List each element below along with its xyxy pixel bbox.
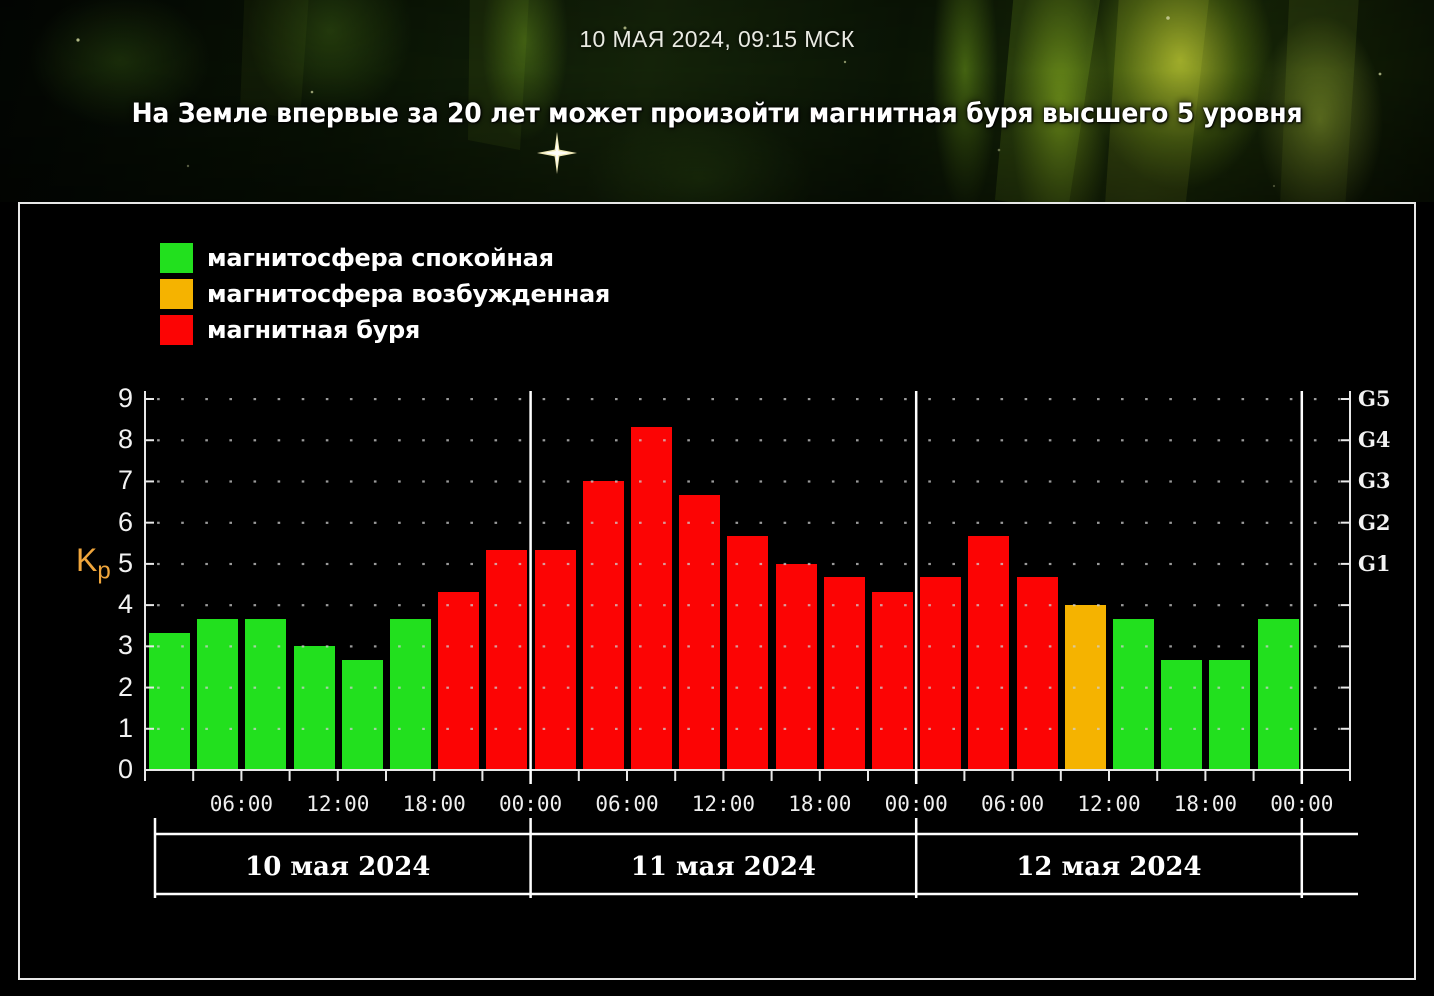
bar-17 bbox=[968, 536, 1009, 770]
y-tick-2: 2 bbox=[97, 674, 133, 701]
x-tick-3: 00:00 bbox=[486, 794, 576, 815]
x-tick-7: 00:00 bbox=[871, 794, 961, 815]
g-tick-G4: G4 bbox=[1358, 429, 1391, 450]
bar-22 bbox=[1209, 660, 1250, 770]
x-tick-9: 12:00 bbox=[1064, 794, 1154, 815]
y-tick-3: 3 bbox=[97, 632, 133, 659]
bar-20 bbox=[1113, 619, 1154, 770]
bar-9 bbox=[583, 481, 624, 770]
page-title: На Земле впервые за 20 лет может произой… bbox=[50, 98, 1384, 129]
g-tick-G1: G1 bbox=[1358, 553, 1391, 574]
x-tick-1: 12:00 bbox=[293, 794, 383, 815]
y-tick-4: 4 bbox=[97, 591, 133, 618]
y-tick-0: 0 bbox=[97, 756, 133, 783]
x-tick-6: 18:00 bbox=[775, 794, 865, 815]
chart-plot-area: Kp 0123456789 G1G2G3G4G5 06:0012:0018:00… bbox=[20, 204, 1418, 982]
day-label-0: 10 мая 2024 bbox=[145, 854, 531, 880]
y-tick-5: 5 bbox=[97, 550, 133, 577]
y-tick-7: 7 bbox=[97, 467, 133, 494]
bar-7 bbox=[486, 550, 527, 770]
y-tick-8: 8 bbox=[97, 426, 133, 453]
bar-4 bbox=[342, 660, 383, 770]
star-sparkle-icon bbox=[537, 132, 577, 174]
x-tick-0: 06:00 bbox=[196, 794, 286, 815]
y-tick-6: 6 bbox=[97, 509, 133, 536]
bar-6 bbox=[438, 592, 479, 770]
bar-10 bbox=[631, 427, 672, 770]
timestamp-text: 10 МАЯ 2024, 09:15 МСК bbox=[0, 26, 1434, 53]
bar-3 bbox=[294, 646, 335, 770]
g-tick-G2: G2 bbox=[1358, 512, 1391, 533]
x-tick-4: 06:00 bbox=[582, 794, 672, 815]
bar-14 bbox=[824, 577, 865, 770]
g-tick-G5: G5 bbox=[1358, 388, 1391, 409]
bar-23 bbox=[1258, 619, 1299, 770]
kp-index-chart-panel: магнитосфера спокойная магнитосфера возб… bbox=[18, 202, 1416, 980]
x-tick-11: 00:00 bbox=[1257, 794, 1347, 815]
bar-18 bbox=[1017, 577, 1058, 770]
x-tick-8: 06:00 bbox=[968, 794, 1058, 815]
bar-2 bbox=[245, 619, 286, 770]
y-tick-9: 9 bbox=[97, 385, 133, 412]
bar-13 bbox=[776, 564, 817, 770]
bar-16 bbox=[920, 577, 961, 770]
y-tick-1: 1 bbox=[97, 715, 133, 742]
day-label-2: 12 мая 2024 bbox=[916, 854, 1302, 880]
day-label-1: 11 мая 2024 bbox=[531, 854, 917, 880]
bar-11 bbox=[679, 495, 720, 770]
bar-5 bbox=[390, 619, 431, 770]
bar-1 bbox=[197, 619, 238, 770]
bar-19 bbox=[1065, 605, 1106, 770]
aurora-header-banner: 10 МАЯ 2024, 09:15 МСК На Земле впервые … bbox=[0, 0, 1434, 202]
x-tick-2: 18:00 bbox=[389, 794, 479, 815]
x-tick-5: 12:00 bbox=[678, 794, 768, 815]
bar-8 bbox=[535, 550, 576, 770]
g-tick-G3: G3 bbox=[1358, 470, 1391, 491]
bar-12 bbox=[727, 536, 768, 770]
bar-0 bbox=[149, 633, 190, 770]
bar-21 bbox=[1161, 660, 1202, 770]
x-tick-10: 18:00 bbox=[1160, 794, 1250, 815]
bar-15 bbox=[872, 592, 913, 770]
